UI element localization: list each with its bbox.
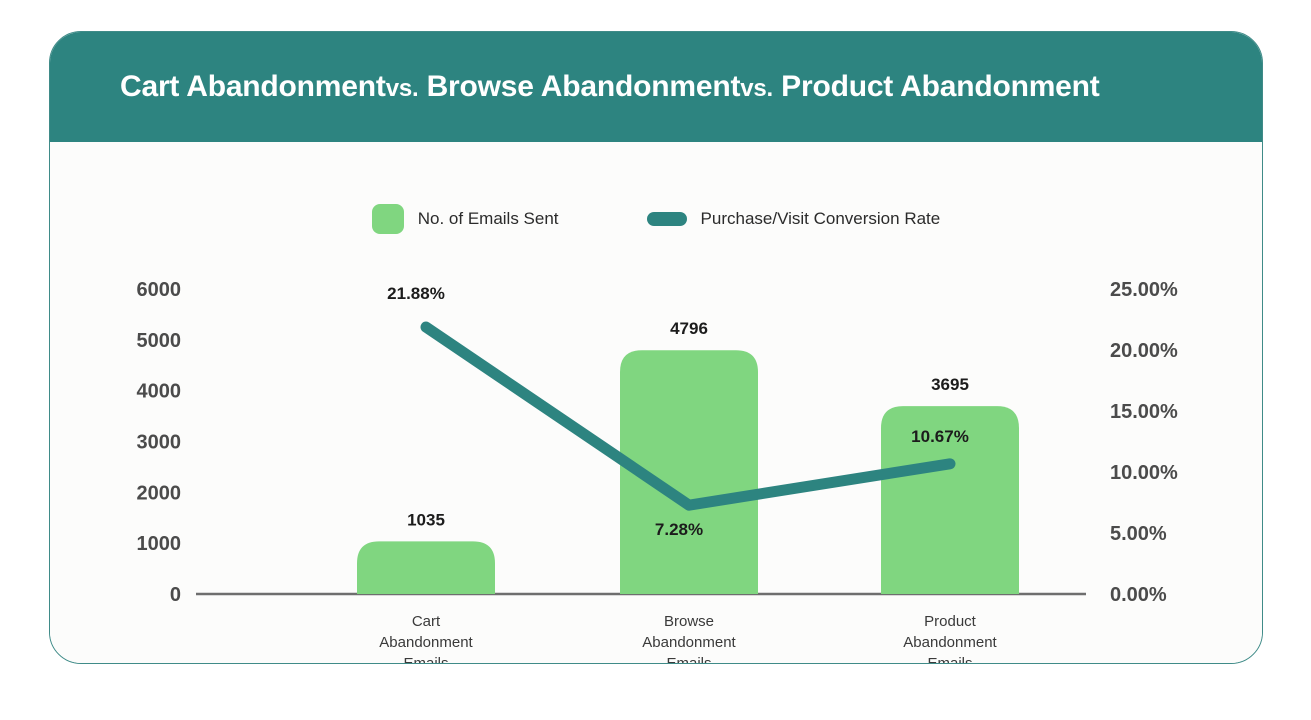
right-axis-tick-label: 20.00%	[1110, 340, 1178, 362]
right-axis-tick-label: 5.00%	[1110, 523, 1167, 545]
left-axis-tick-label: 1000	[137, 533, 182, 555]
combo-chart: 600050004000300020001000025.00%20.00%15.…	[50, 142, 1263, 664]
left-axis-tick-label: 0	[170, 584, 181, 606]
screenshot-root: Cart Abandonmentvs. Browse Abandonmentvs…	[0, 0, 1311, 720]
x-axis-category-label: Emails	[666, 655, 711, 664]
left-axis-tick-label: 5000	[137, 330, 182, 352]
title-vs-2: vs.	[740, 75, 773, 102]
right-axis-tick-label: 25.00%	[1110, 279, 1178, 301]
x-axis-category-label: Product	[924, 613, 977, 630]
title-segment-cart: Cart Abandonment	[120, 70, 386, 103]
x-axis-category-label: Abandonment	[379, 634, 473, 651]
left-axis-tick-label: 4000	[137, 381, 182, 403]
line-value-label: 7.28%	[655, 520, 703, 539]
chart-card: Cart Abandonmentvs. Browse Abandonmentvs…	[49, 31, 1263, 664]
card-body: No. of Emails Sent Purchase/Visit Conver…	[50, 142, 1262, 663]
left-axis-tick-label: 6000	[137, 279, 182, 301]
right-axis-tick-label: 15.00%	[1110, 401, 1178, 423]
bar-value-label: 1035	[407, 510, 445, 529]
left-axis-tick-label: 3000	[137, 432, 182, 454]
x-axis-category-label: Emails	[403, 655, 448, 664]
bar-emails-sent[interactable]	[357, 541, 495, 594]
page-title: Cart Abandonmentvs. Browse Abandonmentvs…	[120, 70, 1100, 104]
chart-area: 600050004000300020001000025.00%20.00%15.…	[50, 142, 1263, 664]
bar-value-label: 4796	[670, 319, 708, 338]
x-axis-category-label: Cart	[412, 613, 441, 630]
x-axis-category-label: Abandonment	[903, 634, 997, 651]
title-segment-product: Product Abandonment	[781, 70, 1099, 103]
line-value-label: 21.88%	[387, 284, 445, 303]
card-header: Cart Abandonmentvs. Browse Abandonmentvs…	[50, 32, 1262, 142]
x-axis-category-label: Abandonment	[642, 634, 736, 651]
title-vs-1: vs.	[386, 75, 419, 102]
left-axis-tick-label: 2000	[137, 482, 182, 504]
x-axis-category-label: Browse	[664, 613, 714, 630]
x-axis-category-label: Emails	[927, 655, 972, 664]
title-segment-browse: Browse Abandonment	[427, 70, 741, 103]
line-value-label: 10.67%	[911, 427, 969, 446]
right-axis-tick-label: 10.00%	[1110, 462, 1178, 484]
bar-value-label: 3695	[931, 375, 969, 394]
right-axis-tick-label: 0.00%	[1110, 584, 1167, 606]
